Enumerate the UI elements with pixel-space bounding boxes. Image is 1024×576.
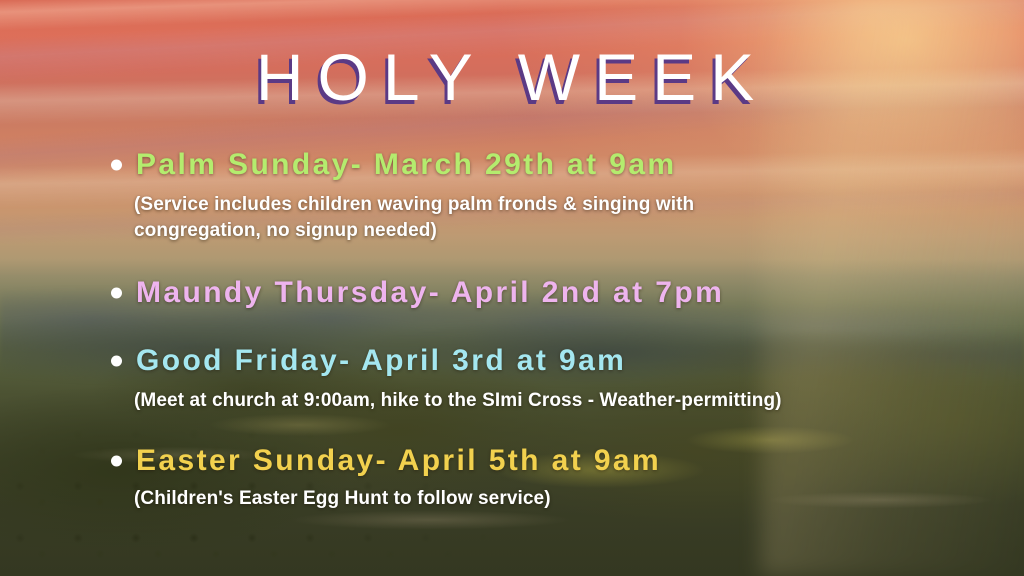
event-item-good-friday: Good Friday- April 3rd at 9am (Meet at c… — [104, 342, 984, 414]
slide-content: HOLY WEEK Palm Sunday- March 29th at 9am… — [0, 0, 1024, 576]
event-item-easter-sunday: Easter Sunday- April 5th at 9am (Childre… — [104, 442, 984, 512]
slide-title: HOLY WEEK — [0, 44, 1024, 110]
event-headline-palm-sunday: Palm Sunday- March 29th at 9am — [136, 148, 677, 181]
event-headline-good-friday: Good Friday- April 3rd at 9am — [136, 344, 626, 377]
bullet-icon — [111, 356, 122, 367]
event-headline-row-maundy-thursday: Maundy Thursday- April 2nd at 7pm — [104, 274, 984, 312]
event-headline-row-easter-sunday: Easter Sunday- April 5th at 9am — [104, 442, 984, 480]
bullet-icon — [111, 160, 122, 171]
event-note-palm-sunday: (Service includes children waving palm f… — [134, 192, 824, 243]
bullet-icon — [111, 287, 122, 298]
event-item-maundy-thursday: Maundy Thursday- April 2nd at 7pm — [104, 274, 984, 312]
bullet-icon — [111, 456, 122, 467]
event-headline-row-palm-sunday: Palm Sunday- March 29th at 9am — [104, 146, 984, 184]
event-note-good-friday: (Meet at church at 9:00am, hike to the S… — [134, 388, 974, 414]
event-headline-maundy-thursday: Maundy Thursday- April 2nd at 7pm — [136, 276, 724, 309]
event-note-easter-sunday: (Children's Easter Egg Hunt to follow se… — [134, 486, 834, 512]
event-headline-row-good-friday: Good Friday- April 3rd at 9am — [104, 342, 984, 380]
holy-week-slide: HOLY WEEK Palm Sunday- March 29th at 9am… — [0, 0, 1024, 576]
event-headline-easter-sunday: Easter Sunday- April 5th at 9am — [136, 444, 661, 477]
event-item-palm-sunday: Palm Sunday- March 29th at 9am (Service … — [104, 146, 984, 244]
event-list: Palm Sunday- March 29th at 9am (Service … — [104, 146, 984, 514]
